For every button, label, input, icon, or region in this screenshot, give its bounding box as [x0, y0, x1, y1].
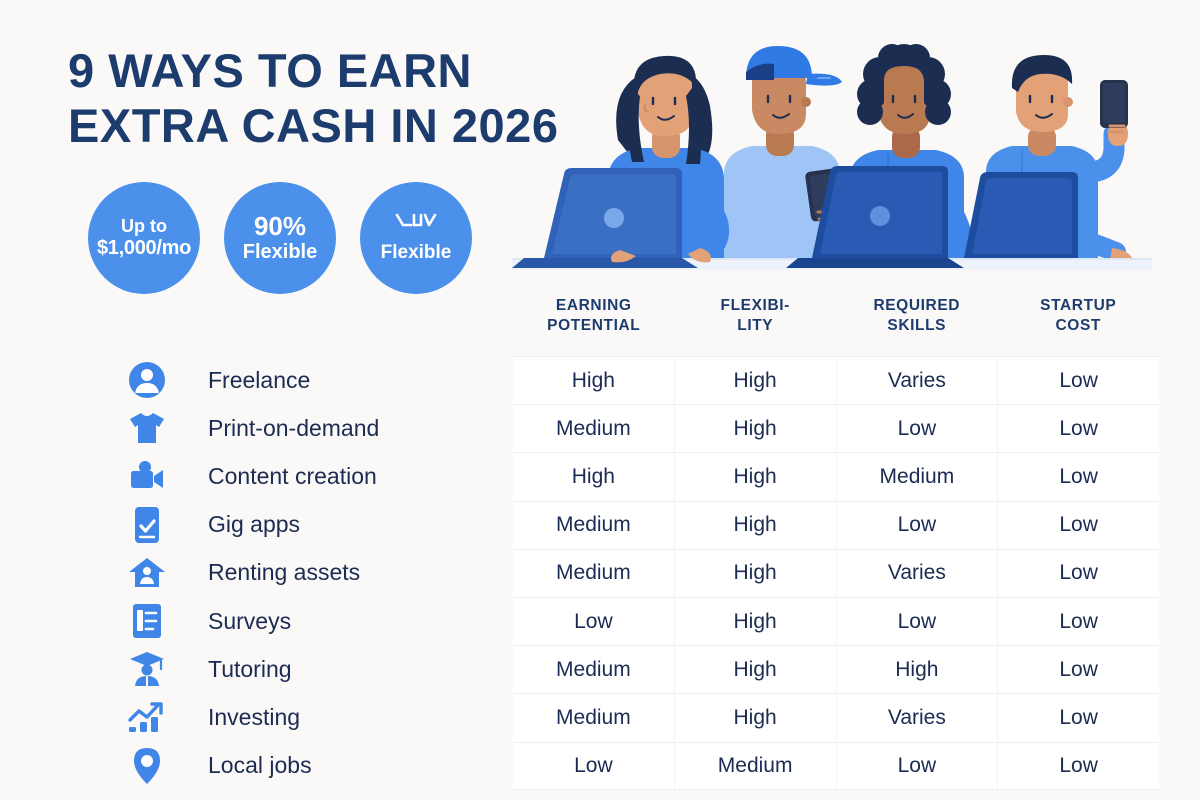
- people-working-illustration: [512, 22, 1152, 270]
- badge-flexible-percent: 90% Flexible: [224, 182, 336, 294]
- video-camera-icon: [124, 460, 170, 492]
- cell-flexibility: High: [674, 550, 836, 597]
- cell-flexibility: High: [674, 694, 836, 741]
- cell-earning-potential: Medium: [513, 502, 674, 549]
- earning-methods-list: Freelance Print-on-demand Content creati…: [124, 356, 379, 790]
- cell-required-skills: Medium: [836, 453, 998, 500]
- column-header-required-skills: REQUIRED SKILLS: [836, 276, 998, 356]
- location-pin-icon: [124, 747, 170, 785]
- badge-flexible-icon: Flexible: [360, 182, 472, 294]
- flexible-mark-icon: [394, 212, 438, 237]
- cell-flexibility: High: [674, 502, 836, 549]
- cell-earning-potential: Medium: [513, 694, 674, 741]
- badge-bottom-text: Flexible: [243, 241, 317, 264]
- cell-flexibility: Medium: [674, 743, 836, 789]
- table-row: Medium High High Low: [513, 645, 1159, 693]
- list-item[interactable]: Local jobs: [124, 742, 379, 790]
- laptop-left: [512, 168, 698, 268]
- phone-check-icon: [124, 506, 170, 544]
- laptop-far-right: [964, 172, 1078, 258]
- column-header-startup-cost: STARTUP COST: [998, 276, 1160, 356]
- list-item-label: Gig apps: [208, 511, 300, 538]
- cell-startup-cost: Low: [997, 502, 1159, 549]
- badge-bottom-text: $1,000/mo: [97, 237, 191, 260]
- badge-earning-potential: Up to $1,000/mo: [88, 182, 200, 294]
- column-header-earning-potential: EARNING POTENTIAL: [513, 276, 675, 356]
- cell-required-skills: Varies: [836, 694, 998, 741]
- list-item[interactable]: Investing: [124, 693, 379, 741]
- list-item[interactable]: Gig apps: [124, 501, 379, 549]
- cell-required-skills: Varies: [836, 550, 998, 597]
- cell-startup-cost: Low: [997, 743, 1159, 789]
- list-item[interactable]: Content creation: [124, 452, 379, 500]
- document-lines-icon: [124, 603, 170, 639]
- person-circle-icon: [124, 361, 170, 399]
- comparison-table: EARNING POTENTIAL FLEXIBI- LITY REQUIRED…: [513, 276, 1159, 790]
- tshirt-icon: [124, 411, 170, 445]
- cell-flexibility: High: [674, 598, 836, 645]
- cell-earning-potential: Medium: [513, 405, 674, 452]
- graduate-icon: [124, 651, 170, 687]
- list-item[interactable]: Renting assets: [124, 549, 379, 597]
- cell-flexibility: High: [674, 405, 836, 452]
- list-item[interactable]: Surveys: [124, 597, 379, 645]
- cell-required-skills: Low: [836, 502, 998, 549]
- list-item[interactable]: Print-on-demand: [124, 404, 379, 452]
- table-row: High High Varies Low: [513, 356, 1159, 404]
- list-item-label: Renting assets: [208, 559, 360, 586]
- cell-startup-cost: Low: [997, 357, 1159, 404]
- table-row: Low Medium Low Low: [513, 742, 1159, 790]
- table-row: Medium High Varies Low: [513, 693, 1159, 741]
- cell-startup-cost: Low: [997, 405, 1159, 452]
- table-row: High High Medium Low: [513, 452, 1159, 500]
- cell-required-skills: Low: [836, 598, 998, 645]
- cell-required-skills: Varies: [836, 357, 998, 404]
- house-person-icon: [124, 557, 170, 589]
- cell-required-skills: Low: [836, 743, 998, 789]
- cell-earning-potential: Low: [513, 743, 674, 789]
- badge-group: Up to $1,000/mo 90% Flexible Flexible: [88, 182, 472, 294]
- cell-earning-potential: Low: [513, 598, 674, 645]
- cell-earning-potential: High: [513, 453, 674, 500]
- table-row: Medium High Varies Low: [513, 549, 1159, 597]
- list-item-label: Surveys: [208, 608, 291, 635]
- badge-top-text: Up to: [121, 216, 167, 237]
- table-header-row: EARNING POTENTIAL FLEXIBI- LITY REQUIRED…: [513, 276, 1159, 356]
- list-item[interactable]: Tutoring: [124, 645, 379, 693]
- list-item-label: Local jobs: [208, 752, 312, 779]
- cell-startup-cost: Low: [997, 694, 1159, 741]
- list-item-label: Investing: [208, 704, 300, 731]
- cell-startup-cost: Low: [997, 550, 1159, 597]
- list-item[interactable]: Freelance: [124, 356, 379, 404]
- growth-chart-icon: [124, 700, 170, 734]
- list-item-label: Freelance: [208, 367, 310, 394]
- badge-bottom-text: Flexible: [381, 242, 452, 264]
- cell-earning-potential: Medium: [513, 646, 674, 693]
- cell-startup-cost: Low: [997, 453, 1159, 500]
- cell-startup-cost: Low: [997, 646, 1159, 693]
- cell-startup-cost: Low: [997, 598, 1159, 645]
- table-row: Low High Low Low: [513, 597, 1159, 645]
- cell-earning-potential: High: [513, 357, 674, 404]
- list-item-label: Content creation: [208, 463, 377, 490]
- cell-flexibility: High: [674, 357, 836, 404]
- table-row: Medium High Low Low: [513, 501, 1159, 549]
- cell-required-skills: Low: [836, 405, 998, 452]
- column-header-flexibility: FLEXIBI- LITY: [675, 276, 837, 356]
- badge-top-text: 90%: [254, 212, 306, 242]
- cell-earning-potential: Medium: [513, 550, 674, 597]
- list-item-label: Tutoring: [208, 656, 292, 683]
- cell-required-skills: High: [836, 646, 998, 693]
- cell-flexibility: High: [674, 646, 836, 693]
- cell-flexibility: High: [674, 453, 836, 500]
- table-row: Medium High Low Low: [513, 404, 1159, 452]
- list-item-label: Print-on-demand: [208, 415, 379, 442]
